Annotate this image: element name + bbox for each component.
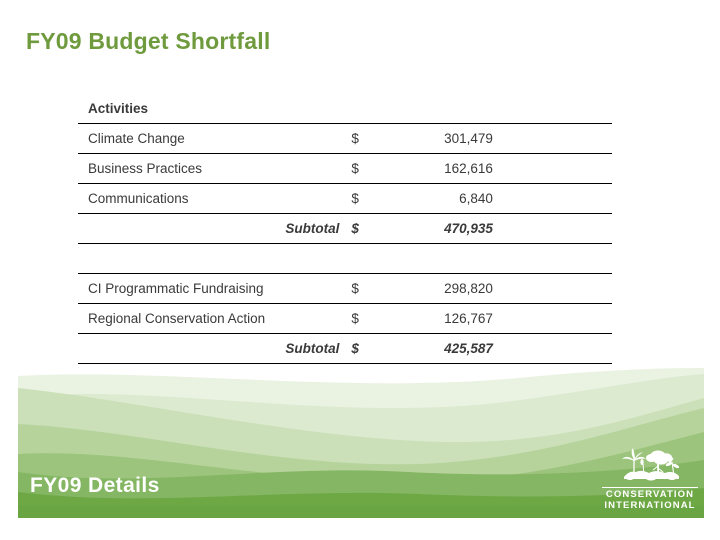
page-title: FY09 Budget Shortfall	[26, 28, 270, 55]
row-label: Business Practices	[78, 154, 351, 184]
row-amount: 301,479	[381, 124, 493, 154]
conservation-international-logo: CONSERVATION INTERNATIONAL	[598, 448, 702, 514]
subtotal-amount: 425,587	[381, 334, 493, 364]
row-label: Climate Change	[78, 124, 351, 154]
table-row: CI Programmatic Fundraising $ 298,820	[78, 274, 612, 304]
spacer-cell	[381, 244, 493, 274]
table-subtotal-row: Subtotal $ 425,587	[78, 334, 612, 364]
row-pad	[493, 124, 612, 154]
subtotal-label: Subtotal	[78, 334, 351, 364]
row-label: CI Programmatic Fundraising	[78, 274, 351, 304]
row-label: Communications	[78, 184, 351, 214]
row-pad	[493, 304, 612, 334]
section-header-pad-cell	[493, 94, 612, 124]
tree-and-plants-icon	[620, 448, 682, 486]
row-label: Regional Conservation Action	[78, 304, 351, 334]
spacer-cell	[78, 244, 351, 274]
subtotal-amount: 470,935	[381, 214, 493, 244]
row-currency-symbol: $	[351, 154, 380, 184]
subtotal-currency-symbol: $	[351, 214, 380, 244]
row-pad	[493, 184, 612, 214]
row-currency-symbol: $	[351, 124, 380, 154]
row-amount: 126,767	[381, 304, 493, 334]
spacer-cell	[351, 244, 380, 274]
row-currency-symbol: $	[351, 184, 380, 214]
table-row: Climate Change $ 301,479	[78, 124, 612, 154]
row-currency-symbol: $	[351, 274, 380, 304]
row-pad	[493, 274, 612, 304]
subtotal-label: Subtotal	[78, 214, 351, 244]
row-currency-symbol: $	[351, 304, 380, 334]
logo-wordmark-line2: INTERNATIONAL	[598, 500, 702, 511]
table-spacer-row	[78, 244, 612, 274]
row-amount: 6,840	[381, 184, 493, 214]
table-section-header-row: Activities	[78, 94, 612, 124]
section-header-symbol-cell	[351, 94, 380, 124]
table-row: Regional Conservation Action $ 126,767	[78, 304, 612, 334]
table-subtotal-row: Subtotal $ 470,935	[78, 214, 612, 244]
logo-wordmark-line1: CONSERVATION	[598, 489, 702, 500]
row-amount: 298,820	[381, 274, 493, 304]
row-amount: 162,616	[381, 154, 493, 184]
row-pad	[493, 154, 612, 184]
subtotal-currency-symbol: $	[351, 334, 380, 364]
subtotal-pad	[493, 214, 612, 244]
table-row: Business Practices $ 162,616	[78, 154, 612, 184]
subtotal-pad	[493, 334, 612, 364]
section-header-label: Activities	[78, 94, 351, 124]
section-header-amount-cell	[381, 94, 493, 124]
table-row: Communications $ 6,840	[78, 184, 612, 214]
spacer-cell	[493, 244, 612, 274]
footer-caption: FY09 Details	[30, 474, 160, 498]
